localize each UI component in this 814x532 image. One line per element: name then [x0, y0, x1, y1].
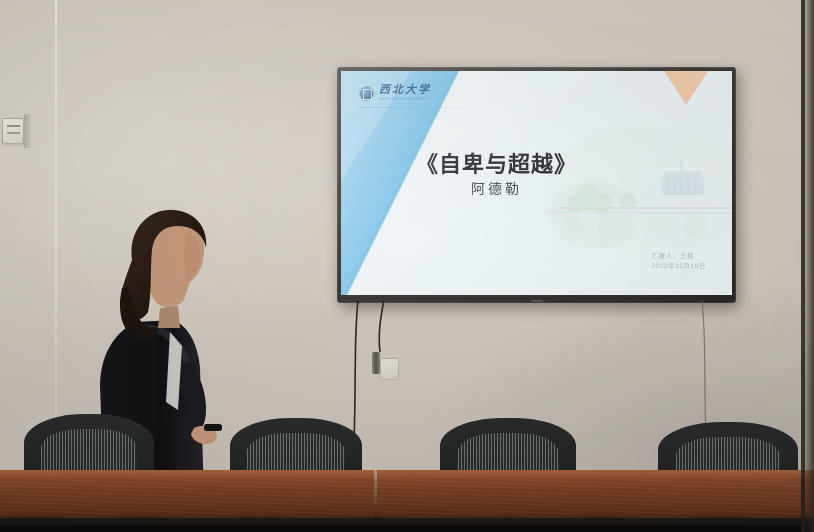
- slide-meta: 汇报人：王楠 2022年11月19日: [651, 252, 706, 271]
- wall-data-plate[interactable]: [380, 358, 399, 380]
- floor-shadow: [0, 526, 814, 532]
- table-front-edge: [0, 470, 814, 479]
- logo-underline: [359, 107, 479, 108]
- cable-connector: [372, 352, 380, 374]
- slide-peach-triangle-decoration: [664, 71, 708, 105]
- presentation-clicker-icon: [204, 424, 222, 431]
- wall-socket-trim: [24, 114, 31, 148]
- conference-table: [0, 470, 814, 532]
- presentation-slide: 西北大学 NORTHWEST UNIVERSITY 《自卑与超越》 阿德勒 汇报…: [341, 71, 732, 295]
- wall-corner-edge: [801, 0, 805, 532]
- university-name-cn: 西北大学: [379, 85, 431, 96]
- university-logo: 西北大学 NORTHWEST UNIVERSITY: [359, 85, 431, 101]
- university-seal-icon: [359, 86, 374, 101]
- socket-slots-icon: [7, 125, 20, 134]
- wall-power-socket[interactable]: [2, 118, 24, 144]
- slide-title: 《自卑与超越》: [341, 147, 732, 179]
- table-panel-seam: [374, 470, 377, 518]
- slide-date-line: 2022年11月19日: [651, 262, 706, 271]
- wall-mounted-tv[interactable]: 西北大学 NORTHWEST UNIVERSITY 《自卑与超越》 阿德勒 汇报…: [337, 67, 736, 303]
- meeting-room-scene: 西北大学 NORTHWEST UNIVERSITY 《自卑与超越》 阿德勒 汇报…: [0, 0, 814, 532]
- tv-screen[interactable]: 西北大学 NORTHWEST UNIVERSITY 《自卑与超越》 阿德勒 汇报…: [341, 71, 732, 295]
- hanging-cable-right: [690, 300, 720, 435]
- wall-panel-seam: [55, 0, 57, 430]
- tv-ir-sensor-icon: [531, 300, 543, 302]
- university-name-en: NORTHWEST UNIVERSITY: [379, 98, 431, 101]
- table-wood-grain: [0, 478, 814, 518]
- slide-presenter-line: 汇报人：王楠: [651, 252, 706, 261]
- table-surface: [0, 478, 814, 518]
- slide-subtitle: 阿德勒: [341, 179, 732, 199]
- university-logo-text: 西北大学 NORTHWEST UNIVERSITY: [379, 85, 431, 101]
